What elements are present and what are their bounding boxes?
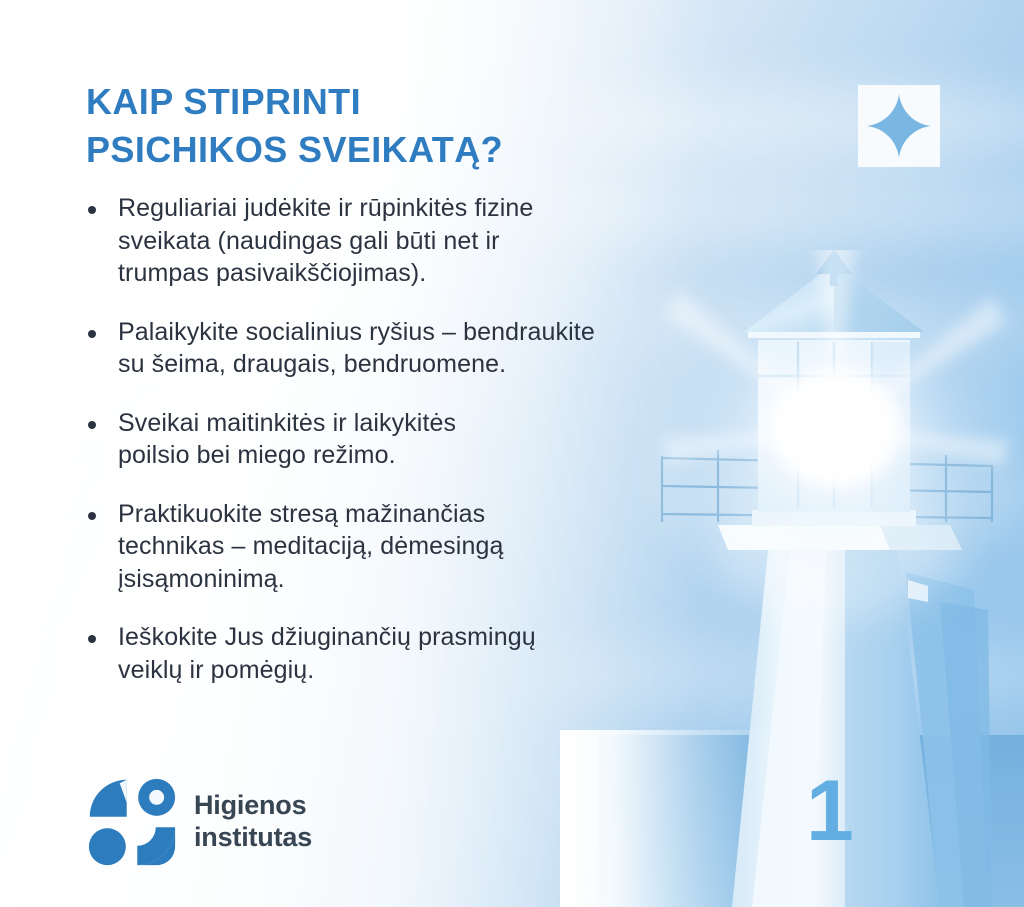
list-item-text: Ieškokite Jus džiuginančių prasmingų vei…: [118, 621, 706, 686]
organization-name-line-2: institutas: [194, 822, 312, 854]
bullet-dot-icon: [88, 206, 96, 214]
bullet-dot-icon: [88, 421, 96, 429]
organization-logo: Higienos institutas: [88, 778, 312, 866]
list-item-text: Praktikuokite stresą mažinančias technik…: [118, 498, 706, 596]
poster-canvas: KAIP STIPRINTI PSICHIKOS SVEIKATĄ? Regul…: [0, 0, 1024, 907]
list-item: Reguliariai judėkite ir rūpinkitės fizin…: [86, 192, 706, 290]
list-item-text: Sveikai maitinkitės ir laikykitės poilsi…: [118, 407, 706, 472]
page-title-line-2: PSICHIKOS SVEIKATĄ?: [86, 126, 686, 174]
bullet-dot-icon: [88, 330, 96, 338]
four-pointed-star-icon: [858, 85, 940, 167]
advice-list: Reguliariai judėkite ir rūpinkitės fizin…: [86, 192, 706, 686]
list-item: Praktikuokite stresą mažinančias technik…: [86, 498, 706, 596]
star-badge: [858, 85, 940, 167]
bullet-dot-icon: [88, 635, 96, 643]
list-item: Sveikai maitinkitės ir laikykitės poilsi…: [86, 407, 706, 472]
page-number: 1: [806, 768, 852, 854]
list-item-text: Reguliariai judėkite ir rūpinkitės fizin…: [118, 192, 706, 290]
page-title: KAIP STIPRINTI PSICHIKOS SVEIKATĄ?: [86, 78, 686, 174]
list-item: Palaikykite socialinius ryšius – bendrau…: [86, 316, 706, 381]
list-item-text: Palaikykite socialinius ryšius – bendrau…: [118, 316, 706, 381]
bullet-dot-icon: [88, 512, 96, 520]
higienos-institutas-mark-icon: [88, 778, 176, 866]
list-item: Ieškokite Jus džiuginančių prasmingų vei…: [86, 621, 706, 686]
organization-name-line-1: Higienos: [194, 790, 312, 822]
organization-name: Higienos institutas: [194, 790, 312, 854]
page-title-line-1: KAIP STIPRINTI: [86, 78, 686, 126]
sea-fade-overlay: [560, 730, 800, 907]
